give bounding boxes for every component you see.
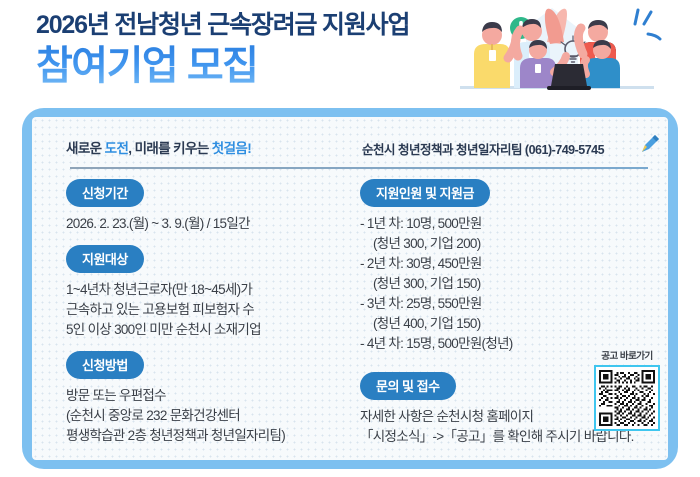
subtitle-slogan: 새로운 도전, 미래를 키우는 첫걸음! [66, 137, 251, 157]
section-application-period: 신청기간 2026. 2. 23.(월) ~ 3. 9.(월) / 15일간 [66, 179, 356, 234]
subtitle-prefix: 새로운 [66, 141, 105, 156]
funding-item-main: - 1년 차: 10명, 500만원 [360, 214, 660, 234]
page-title: 2026년 전남청년 근속장려금 지원사업 참여기업 모집 [36, 9, 409, 90]
badge-row-funding: 지원인원 및 지원금 [360, 179, 660, 207]
contact-info: 순천시 청년정책과 청년일자리팀 (061)-749-5745 [362, 139, 604, 158]
section-application-method: 신청방법 방문 또는 우편접수 (순천시 중앙로 232 문화건강센터 평생학습… [66, 351, 356, 446]
badge-funding: 지원인원 및 지원금 [360, 179, 490, 207]
badge-eligibility: 지원대상 [66, 245, 144, 273]
funding-list: - 1년 차: 10명, 500만원 (청년 300, 기업 200) - 2년… [360, 214, 660, 354]
badge-row-period: 신청기간 [66, 179, 356, 207]
badge-application-method: 신청방법 [66, 351, 144, 379]
application-period-text: 2026. 2. 23.(월) ~ 3. 9.(월) / 15일간 [66, 214, 356, 234]
subtitle-highlight-challenge: 도전 [105, 141, 129, 156]
header-divider [70, 167, 648, 169]
info-card: 새로운 도전, 미래를 키우는 첫걸음! 순천시 청년정책과 청년일자리팀 (0… [22, 108, 678, 469]
info-panel: 새로운 도전, 미래를 키우는 첫걸음! 순천시 청년정책과 청년일자리팀 (0… [32, 117, 668, 460]
subtitle-highlight-firststep: 첫걸음! [212, 141, 251, 156]
left-column: 신청기간 2026. 2. 23.(월) ~ 3. 9.(월) / 15일간 지… [66, 179, 356, 455]
title-line-2: 참여기업 모집 [36, 42, 409, 90]
qr-section[interactable]: 공고 바로가기 [588, 348, 666, 431]
qr-label: 공고 바로가기 [588, 348, 666, 362]
funding-item-sub: (청년 300, 기업 200) [360, 234, 660, 254]
qr-code-icon[interactable] [594, 365, 660, 431]
pencil-icon [639, 133, 661, 160]
funding-item-sub: (청년 400, 기업 150) [360, 314, 660, 334]
badge-row-target: 지원대상 [66, 245, 356, 273]
badge-row-method: 신청방법 [66, 351, 356, 379]
eligibility-text: 1~4년차 청년근로자(만 18~45세)가 근속하고 있는 고용보험 피보험자… [66, 280, 356, 340]
badge-inquiry: 문의 및 접수 [360, 372, 456, 400]
application-method-text: 방문 또는 우편접수 (순천시 중앙로 232 문화건강센터 평생학습관 2층 … [66, 386, 356, 446]
spark-lines [635, 10, 660, 39]
badge-application-period: 신청기간 [66, 179, 144, 207]
title-line-1: 2026년 전남청년 근속장려금 지원사업 [36, 9, 409, 41]
person-yellow [474, 22, 516, 88]
subtitle-middle: , 미래를 키우는 [128, 141, 212, 156]
section-funding: 지원인원 및 지원금 - 1년 차: 10명, 500만원 (청년 300, 기… [360, 179, 660, 354]
funding-item-sub: (청년 300, 기업 150) [360, 274, 660, 294]
section-eligibility: 지원대상 1~4년차 청년근로자(만 18~45세)가 근속하고 있는 고용보험… [66, 245, 356, 340]
poster-header: 2026년 전남청년 근속장려금 지원사업 참여기업 모집 [0, 0, 700, 112]
team-celebration-illustration [452, 2, 662, 106]
funding-item-main: - 3년 차: 25명, 550만원 [360, 294, 660, 314]
funding-item-main: - 2년 차: 30명, 450만원 [360, 254, 660, 274]
